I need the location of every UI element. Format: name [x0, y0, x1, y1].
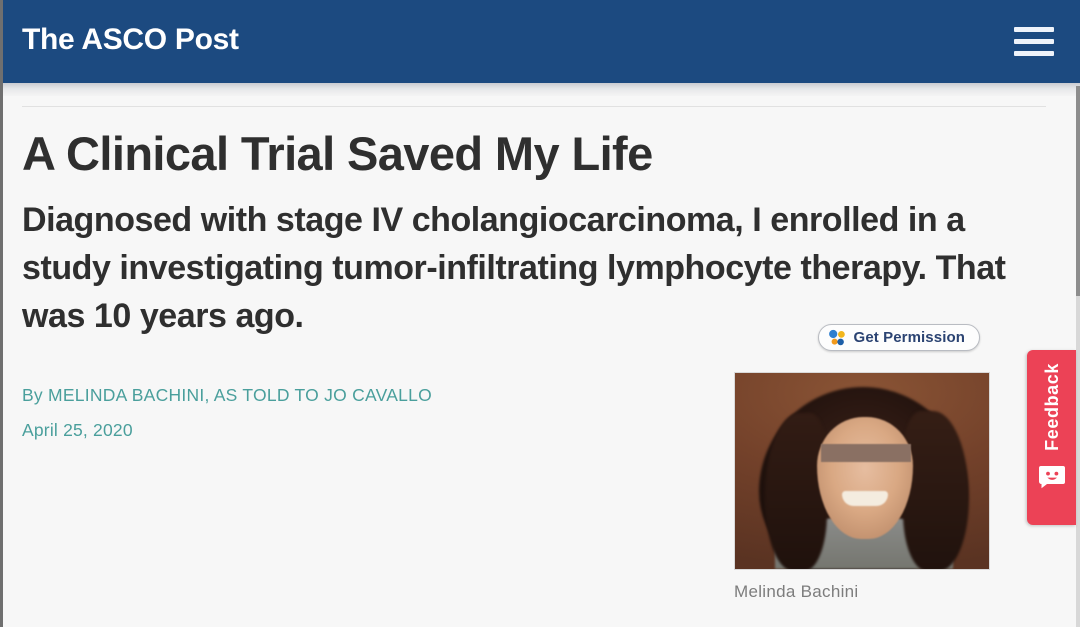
- hamburger-menu-icon[interactable]: [1012, 24, 1056, 60]
- photo-caption: Melinda Bachini: [734, 582, 992, 602]
- hamburger-bar-2: [1014, 39, 1054, 44]
- article-deck: Diagnosed with stage IV cholangiocarcino…: [22, 196, 1060, 341]
- article-figure: Melinda Bachini: [734, 351, 992, 602]
- copyright-clearance-dots-icon: [828, 329, 847, 346]
- photo-redaction-bar: [821, 444, 911, 462]
- article-header-block: A Clinical Trial Saved My Life Diagnosed…: [22, 107, 1060, 441]
- feedback-label: Feedback: [1043, 363, 1061, 451]
- site-logo[interactable]: The ASCO Post: [22, 25, 239, 58]
- page-title: A Clinical Trial Saved My Life: [22, 129, 1060, 179]
- header-shadow-strip: [0, 83, 1080, 96]
- hamburger-bar-1: [1014, 27, 1054, 32]
- page-left-border: [0, 0, 3, 627]
- photo-hair-left: [765, 413, 827, 570]
- smiley-face-icon: [1038, 464, 1066, 489]
- get-permission-label: Get Permission: [854, 329, 965, 346]
- article-right-rail: Get Permission Melinda Bachini: [734, 324, 992, 602]
- article-page: A Clinical Trial Saved My Life Diagnosed…: [0, 106, 1080, 627]
- site-header: The ASCO Post: [0, 0, 1080, 83]
- photo-smile: [842, 491, 888, 506]
- get-permission-button[interactable]: Get Permission: [818, 324, 980, 351]
- article-photo: [734, 372, 990, 570]
- hamburger-bar-3: [1014, 51, 1054, 56]
- feedback-tab[interactable]: Feedback: [1027, 350, 1076, 525]
- scrollbar-thumb[interactable]: [1076, 86, 1080, 296]
